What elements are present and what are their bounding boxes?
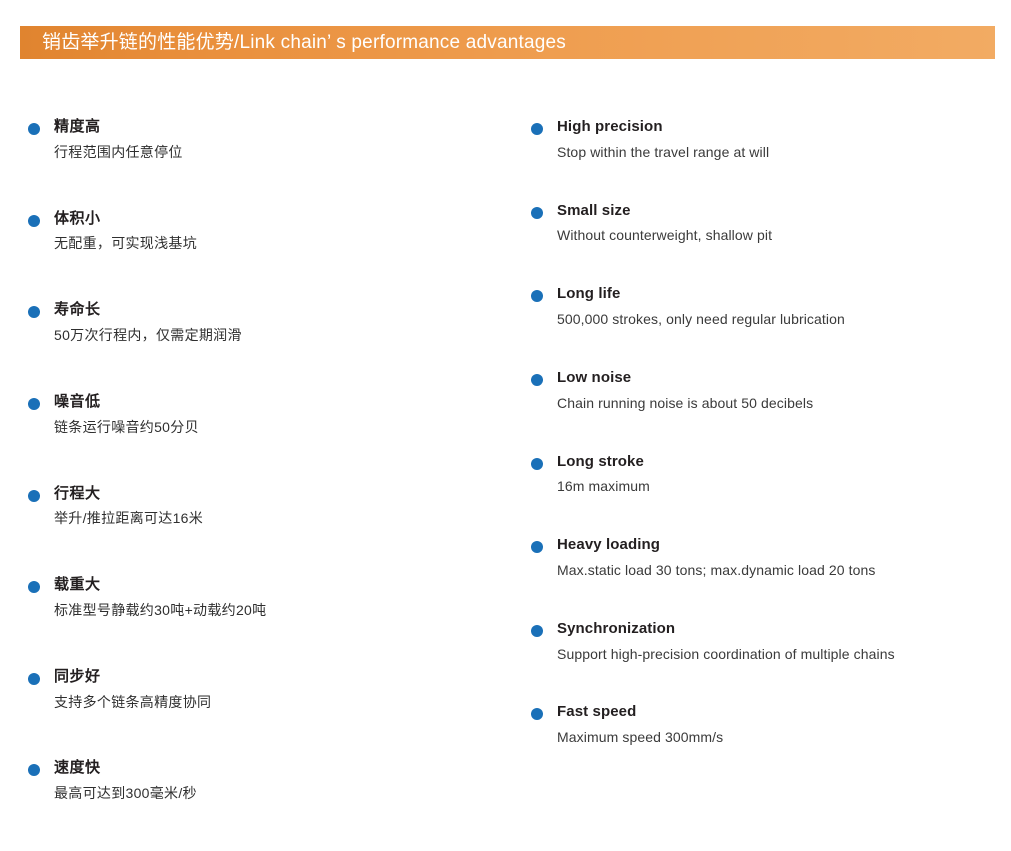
header-banner: 销齿举升链的性能优势/Link chain’ s performance adv… (20, 26, 995, 59)
blue-dot-icon (531, 207, 543, 219)
feature-description: 500,000 strokes, only need regular lubri… (557, 310, 1001, 329)
feature-title: Small size (557, 202, 1001, 221)
feature-item: 同步好 支持多个链条高精度协同 (28, 668, 498, 712)
feature-title: 行程大 (54, 485, 498, 504)
feature-description: Support high-precision coordination of m… (557, 645, 1001, 664)
feature-list-chinese: 精度高 行程范围内任意停位 体积小 无配重，可实现浅基坑 寿命长 50万次行程内… (28, 118, 498, 851)
feature-item: Low noise Chain running noise is about 5… (531, 369, 1001, 413)
feature-item: 速度快 最高可达到300毫米/秒 (28, 759, 498, 803)
feature-description: 行程范围内任意停位 (54, 143, 498, 162)
blue-dot-icon (28, 490, 40, 502)
blue-dot-icon (531, 123, 543, 135)
feature-title: Heavy loading (557, 536, 1001, 555)
feature-description: Chain running noise is about 50 decibels (557, 394, 1001, 413)
feature-title: 体积小 (54, 210, 498, 229)
feature-title: 噪音低 (54, 393, 498, 412)
feature-description: Without counterweight, shallow pit (557, 226, 1001, 245)
feature-item: 行程大 举升/推拉距离可达16米 (28, 485, 498, 529)
feature-description: 链条运行噪音约50分贝 (54, 418, 498, 437)
feature-item: Synchronization Support high-precision c… (531, 620, 1001, 664)
feature-title: 精度高 (54, 118, 498, 137)
feature-item: 精度高 行程范围内任意停位 (28, 118, 498, 162)
feature-item: Long stroke 16m maximum (531, 453, 1001, 497)
blue-dot-icon (531, 708, 543, 720)
feature-description: 50万次行程内，仅需定期润滑 (54, 326, 498, 345)
feature-item: 体积小 无配重，可实现浅基坑 (28, 210, 498, 254)
feature-list-english: High precision Stop within the travel ra… (531, 118, 1001, 787)
feature-title: 载重大 (54, 576, 498, 595)
feature-item: Small size Without counterweight, shallo… (531, 202, 1001, 246)
feature-columns: 精度高 行程范围内任意停位 体积小 无配重，可实现浅基坑 寿命长 50万次行程内… (0, 118, 1011, 768)
feature-title: Synchronization (557, 620, 1001, 639)
blue-dot-icon (531, 458, 543, 470)
feature-description: 无配重，可实现浅基坑 (54, 234, 498, 253)
feature-description: 16m maximum (557, 477, 1001, 496)
feature-item: Long life 500,000 strokes, only need reg… (531, 285, 1001, 329)
blue-dot-icon (28, 123, 40, 135)
feature-description: Max.static load 30 tons; max.dynamic loa… (557, 561, 1001, 580)
feature-item: Fast speed Maximum speed 300mm/s (531, 703, 1001, 747)
blue-dot-icon (28, 581, 40, 593)
feature-title: Long stroke (557, 453, 1001, 472)
blue-dot-icon (531, 625, 543, 637)
blue-dot-icon (28, 215, 40, 227)
blue-dot-icon (531, 374, 543, 386)
feature-title: 寿命长 (54, 301, 498, 320)
feature-description: 标准型号静载约30吨+动载约20吨 (54, 601, 498, 620)
feature-item: 载重大 标准型号静载约30吨+动载约20吨 (28, 576, 498, 620)
blue-dot-icon (28, 673, 40, 685)
feature-description: 举升/推拉距离可达16米 (54, 509, 498, 528)
feature-item: 噪音低 链条运行噪音约50分贝 (28, 393, 498, 437)
blue-dot-icon (28, 306, 40, 318)
feature-title: High precision (557, 118, 1001, 137)
feature-title: Low noise (557, 369, 1001, 388)
blue-dot-icon (531, 290, 543, 302)
feature-title: 同步好 (54, 668, 498, 687)
page-title: 销齿举升链的性能优势/Link chain’ s performance adv… (42, 33, 566, 52)
feature-description: Stop within the travel range at will (557, 143, 1001, 162)
blue-dot-icon (28, 764, 40, 776)
feature-description: 最高可达到300毫米/秒 (54, 784, 498, 803)
blue-dot-icon (531, 541, 543, 553)
feature-item: High precision Stop within the travel ra… (531, 118, 1001, 162)
feature-item: Heavy loading Max.static load 30 tons; m… (531, 536, 1001, 580)
feature-item: 寿命长 50万次行程内，仅需定期润滑 (28, 301, 498, 345)
blue-dot-icon (28, 398, 40, 410)
feature-description: 支持多个链条高精度协同 (54, 693, 498, 712)
feature-description: Maximum speed 300mm/s (557, 728, 1001, 747)
feature-title: Fast speed (557, 703, 1001, 722)
feature-title: Long life (557, 285, 1001, 304)
